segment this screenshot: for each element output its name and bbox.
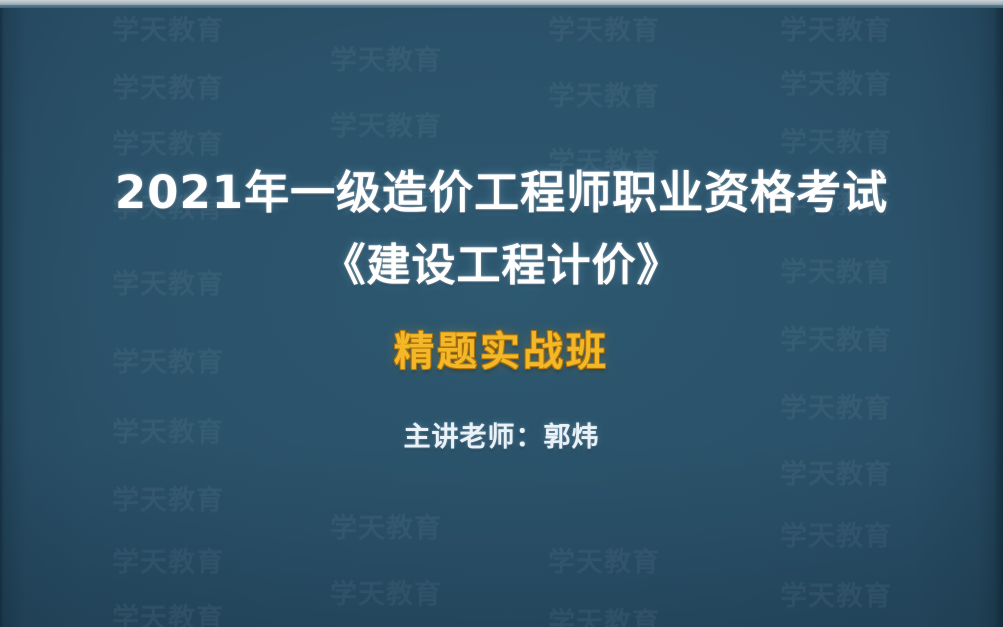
title-content-block: 2021年一级造价工程师职业资格考试 《建设工程计价》 精题实战班 主讲老师：郭… [0,0,1003,627]
course-title-slide: 学天教育学天教育学天教育学天教育学天教育学天教育学天教育学天教育学天教育学天教育… [0,0,1003,627]
top-chrome-edge [0,5,1003,8]
subject-title: 《建设工程计价》 [322,239,682,293]
instructor-label: 主讲老师：郭炜 [404,415,600,454]
course-type-label: 精题实战班 [394,319,609,377]
exam-title: 2021年一级造价工程师职业资格考试 [115,166,888,221]
